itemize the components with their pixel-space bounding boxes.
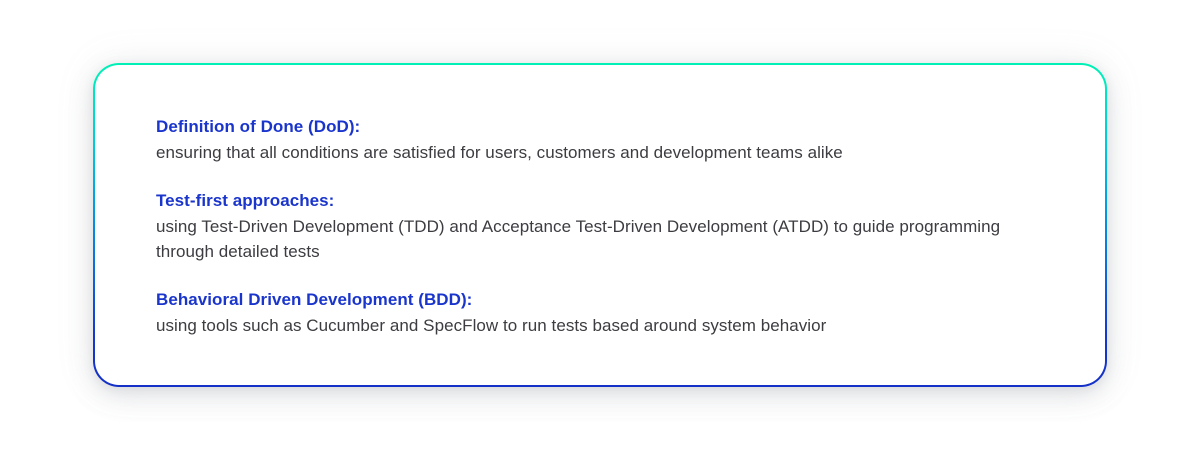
block-body: using Test-Driven Development (TDD) and …	[156, 214, 1056, 264]
content-block: Behavioral Driven Development (BDD): usi…	[156, 288, 1075, 338]
block-heading: Behavioral Driven Development (BDD):	[156, 288, 1075, 312]
block-body: using tools such as Cucumber and SpecFlo…	[156, 313, 1056, 338]
card-inner-surface: Definition of Done (DoD): ensuring that …	[95, 65, 1105, 385]
block-body: ensuring that all conditions are satisfi…	[156, 140, 1056, 165]
block-heading: Test-first approaches:	[156, 189, 1075, 213]
content-block: Test-first approaches: using Test-Driven…	[156, 189, 1075, 264]
page-canvas: Definition of Done (DoD): ensuring that …	[0, 0, 1200, 455]
content-list: Definition of Done (DoD): ensuring that …	[156, 115, 1075, 338]
block-heading: Definition of Done (DoD):	[156, 115, 1075, 139]
gradient-border-card: Definition of Done (DoD): ensuring that …	[93, 63, 1107, 387]
content-block: Definition of Done (DoD): ensuring that …	[156, 115, 1075, 165]
